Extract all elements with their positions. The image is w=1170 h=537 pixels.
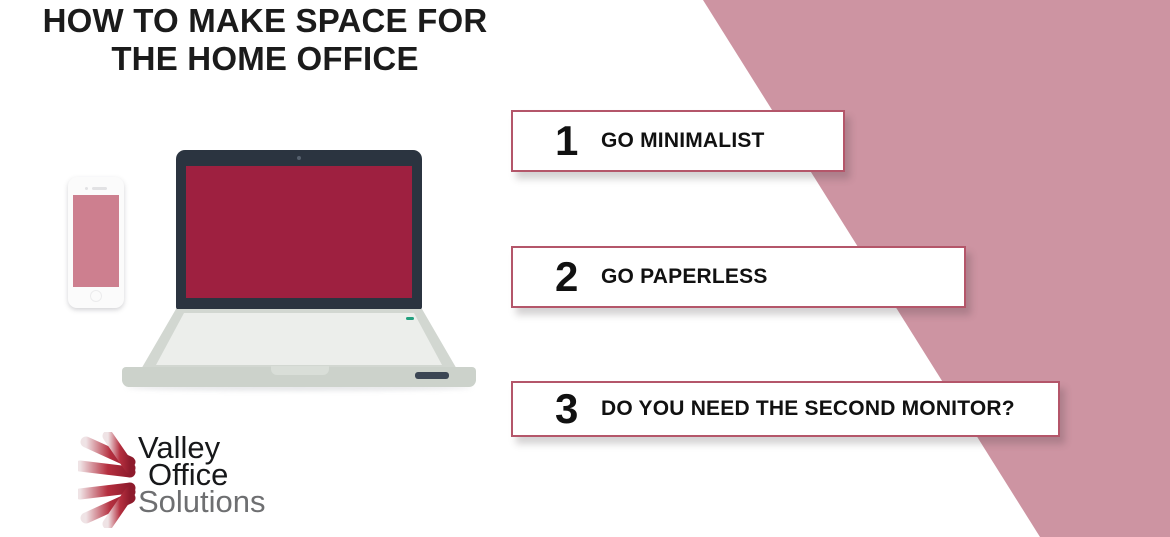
logo[interactable]: Valley Office Solutions <box>78 430 278 530</box>
tip-label-1: GO MINIMALIST <box>601 129 765 153</box>
tip-number-1: 1 <box>555 120 587 162</box>
tip-label-3: DO YOU NEED THE SECOND MONITOR? <box>601 397 1015 421</box>
laptop-trackpad-notch <box>271 366 329 375</box>
page-title-line-1: HOW TO MAKE SPACE FOR <box>43 2 488 39</box>
phone-home-button <box>90 290 102 302</box>
logo-line-solutions: Solutions <box>138 486 266 517</box>
tip-box-1[interactable]: 1 GO MINIMALIST <box>511 110 845 172</box>
tip-box-2[interactable]: 2 GO PAPERLESS <box>511 246 966 308</box>
tip-label-2: GO PAPERLESS <box>601 265 768 289</box>
phone-speaker-slot <box>92 187 107 190</box>
laptop-front-port <box>415 372 449 379</box>
phone-screen <box>73 195 119 287</box>
tip-number-2: 2 <box>555 256 587 298</box>
page-title-line-2: THE HOME OFFICE <box>30 40 500 78</box>
logo-wordmark: Valley Office Solutions <box>138 430 338 526</box>
laptop-status-led-icon <box>406 317 414 320</box>
page-title: HOW TO MAKE SPACE FOR THE HOME OFFICE <box>30 2 500 79</box>
laptop-lid <box>176 150 422 310</box>
laptop-webcam-dot <box>297 156 301 160</box>
laptop-keyboard-deck <box>140 313 458 365</box>
tip-box-3[interactable]: 3 DO YOU NEED THE SECOND MONITOR? <box>511 381 1060 437</box>
laptop-icon <box>118 150 483 390</box>
infographic-canvas: HOW TO MAKE SPACE FOR THE HOME OFFICE 1 … <box>0 0 1170 537</box>
starburst-icon <box>78 432 146 528</box>
smartphone-icon <box>68 177 124 308</box>
tip-number-3: 3 <box>555 388 587 430</box>
laptop-screen <box>186 166 412 298</box>
phone-camera-dot <box>85 187 88 190</box>
